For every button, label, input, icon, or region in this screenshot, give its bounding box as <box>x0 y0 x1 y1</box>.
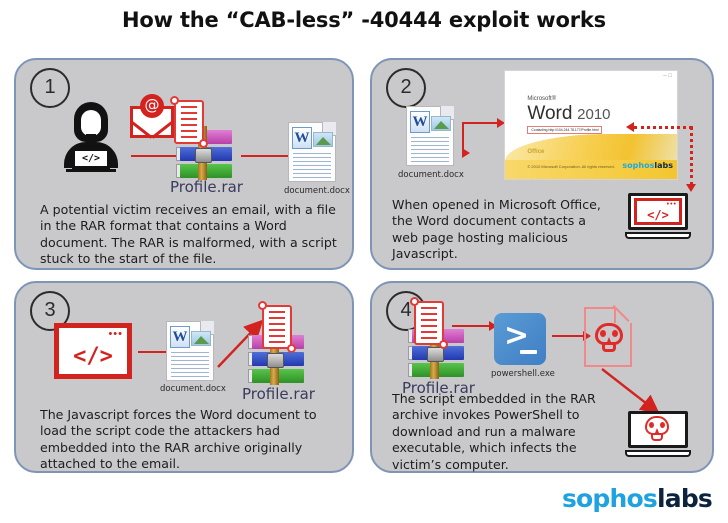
doc-image-thumbnail <box>313 132 333 147</box>
powershell-icon: > <box>494 313 546 365</box>
watermark-sophos: sophos <box>622 161 654 170</box>
splash-product-label: Word <box>527 103 572 124</box>
envelope-flap-left <box>130 120 152 138</box>
panel-step-3: 3 ••• </> W document.docx Profile.rar <box>14 281 354 473</box>
step-1-caption: A potential victim receives an email, wi… <box>40 202 340 268</box>
dotted-arrow-horizontal <box>634 126 692 129</box>
rar-buckle <box>267 353 284 368</box>
panel-step-1: 1 </> @ Profile.rar W <box>14 58 354 270</box>
skull-eye-right <box>660 422 665 428</box>
arrow-rar-to-powershell <box>452 325 490 327</box>
step-4-caption: The script embedded in the RAR archive i… <box>392 391 608 473</box>
word-w-badge: W <box>410 111 430 133</box>
splash-window-controls[interactable]: – □ <box>663 73 672 79</box>
script-scroll-icon <box>414 301 444 345</box>
logo-sophos-text: sophos <box>562 484 657 513</box>
victim-at-laptop-icon: </> <box>58 102 124 174</box>
laptop-base-shape <box>66 169 116 172</box>
doc-text-lines <box>293 153 331 181</box>
page-title: How the “CAB-less” -40444 exploit works <box>0 8 728 32</box>
skull-icon <box>645 416 669 442</box>
splash-product-line: Word 2010 <box>527 103 610 125</box>
skull-nose <box>655 428 659 433</box>
at-symbol-icon: @ <box>140 94 164 118</box>
watermark-labs: labs <box>654 161 673 170</box>
laptop-base-shape <box>625 232 691 239</box>
arrow-victim-to-rar <box>131 155 179 157</box>
skull-icon <box>595 323 623 353</box>
splash-contacting-url: Contacting http://104.244.78.177/Profile… <box>527 126 602 134</box>
powershell-file-label: powershell.exe <box>491 369 555 379</box>
splash-version-label: 2010 <box>577 106 610 123</box>
doc-image-thumbnail <box>191 331 211 346</box>
malware-doc-corner-fold <box>614 307 632 323</box>
splash-office-logo: Office <box>527 149 544 155</box>
envelope-flap-right <box>152 120 174 138</box>
word-w-badge: W <box>292 127 312 149</box>
sophoslabs-logo: sophoslabs <box>562 484 712 513</box>
splash-vendor-label: Microsoft® <box>527 96 556 102</box>
rar-buckle <box>427 347 444 362</box>
step-3-caption: The Javascript forces the Word document … <box>40 407 340 473</box>
dotted-arrow-head-left <box>626 122 634 132</box>
doc-text-lines <box>171 352 209 380</box>
code-glyph-label: </> <box>637 208 679 222</box>
skull-eye-left <box>649 422 654 428</box>
powershell-underscore-glyph <box>520 350 537 354</box>
skull-eye-left <box>600 330 606 337</box>
malware-file-skull-icon <box>584 307 632 367</box>
step-number-badge-2: 2 <box>386 68 426 108</box>
arrow-powershell-to-malware <box>552 335 584 337</box>
rar-file-label: Profile.rar <box>170 178 243 196</box>
infected-laptop-skull-icon <box>625 411 691 459</box>
face-shape <box>81 110 101 136</box>
skull-nose <box>607 337 611 342</box>
word-document-icon: W <box>166 321 214 381</box>
word-document-icon: W <box>288 122 336 182</box>
laptop-code-label: </> <box>75 151 107 166</box>
word-w-badge: W <box>170 326 190 348</box>
script-scroll-icon <box>262 305 292 349</box>
rar-buckle <box>195 148 212 163</box>
word-document-icon: W <box>406 106 454 166</box>
rar-file-label: Profile.rar <box>242 385 315 403</box>
panel-step-4: 4 Profile.rar > powershell.exe <box>370 281 714 473</box>
doc-file-label: document.docx <box>398 170 464 180</box>
arrow-doc-to-splash-vertical <box>462 123 464 153</box>
word-splash-screen: – □ Microsoft® Word 2010 Contacting http… <box>504 70 678 180</box>
dotted-arrow-head-down <box>686 184 696 192</box>
javascript-code-window-icon: ••• </> <box>54 323 132 379</box>
logo-labs-text: labs <box>657 484 712 513</box>
window-dots: ••• <box>667 202 677 207</box>
skull-jaw <box>602 344 616 352</box>
doc-image-thumbnail <box>431 116 451 131</box>
arrow-doc-to-splash <box>462 122 498 124</box>
powershell-prompt-glyph: > <box>504 321 529 351</box>
panel-step-2: 2 W document.docx – □ Microsoft® Word 20… <box>370 58 714 270</box>
skull-eye-right <box>612 330 618 337</box>
laptop-base-shape <box>625 450 691 457</box>
window-dots: ••• <box>108 330 123 338</box>
arrow-rar-to-doc <box>241 155 289 157</box>
laptop-javascript-icon: ••• </> <box>625 193 691 241</box>
code-glyph-label: </> <box>59 344 127 369</box>
doc-file-label: document.docx <box>284 186 350 196</box>
dotted-arrow-vertical <box>690 126 693 186</box>
doc-file-label: document.docx <box>160 384 226 394</box>
step-2-caption: When opened in Microsoft Office, the Wor… <box>392 197 614 263</box>
doc-text-lines <box>411 137 449 165</box>
skull-jaw <box>651 434 663 441</box>
splash-copyright: © 2010 Microsoft Corporation. All rights… <box>527 164 614 169</box>
splash-watermark: sophoslabs <box>622 161 673 170</box>
script-scroll-icon <box>174 100 204 144</box>
browser-window-shape: ••• </> <box>634 198 682 225</box>
